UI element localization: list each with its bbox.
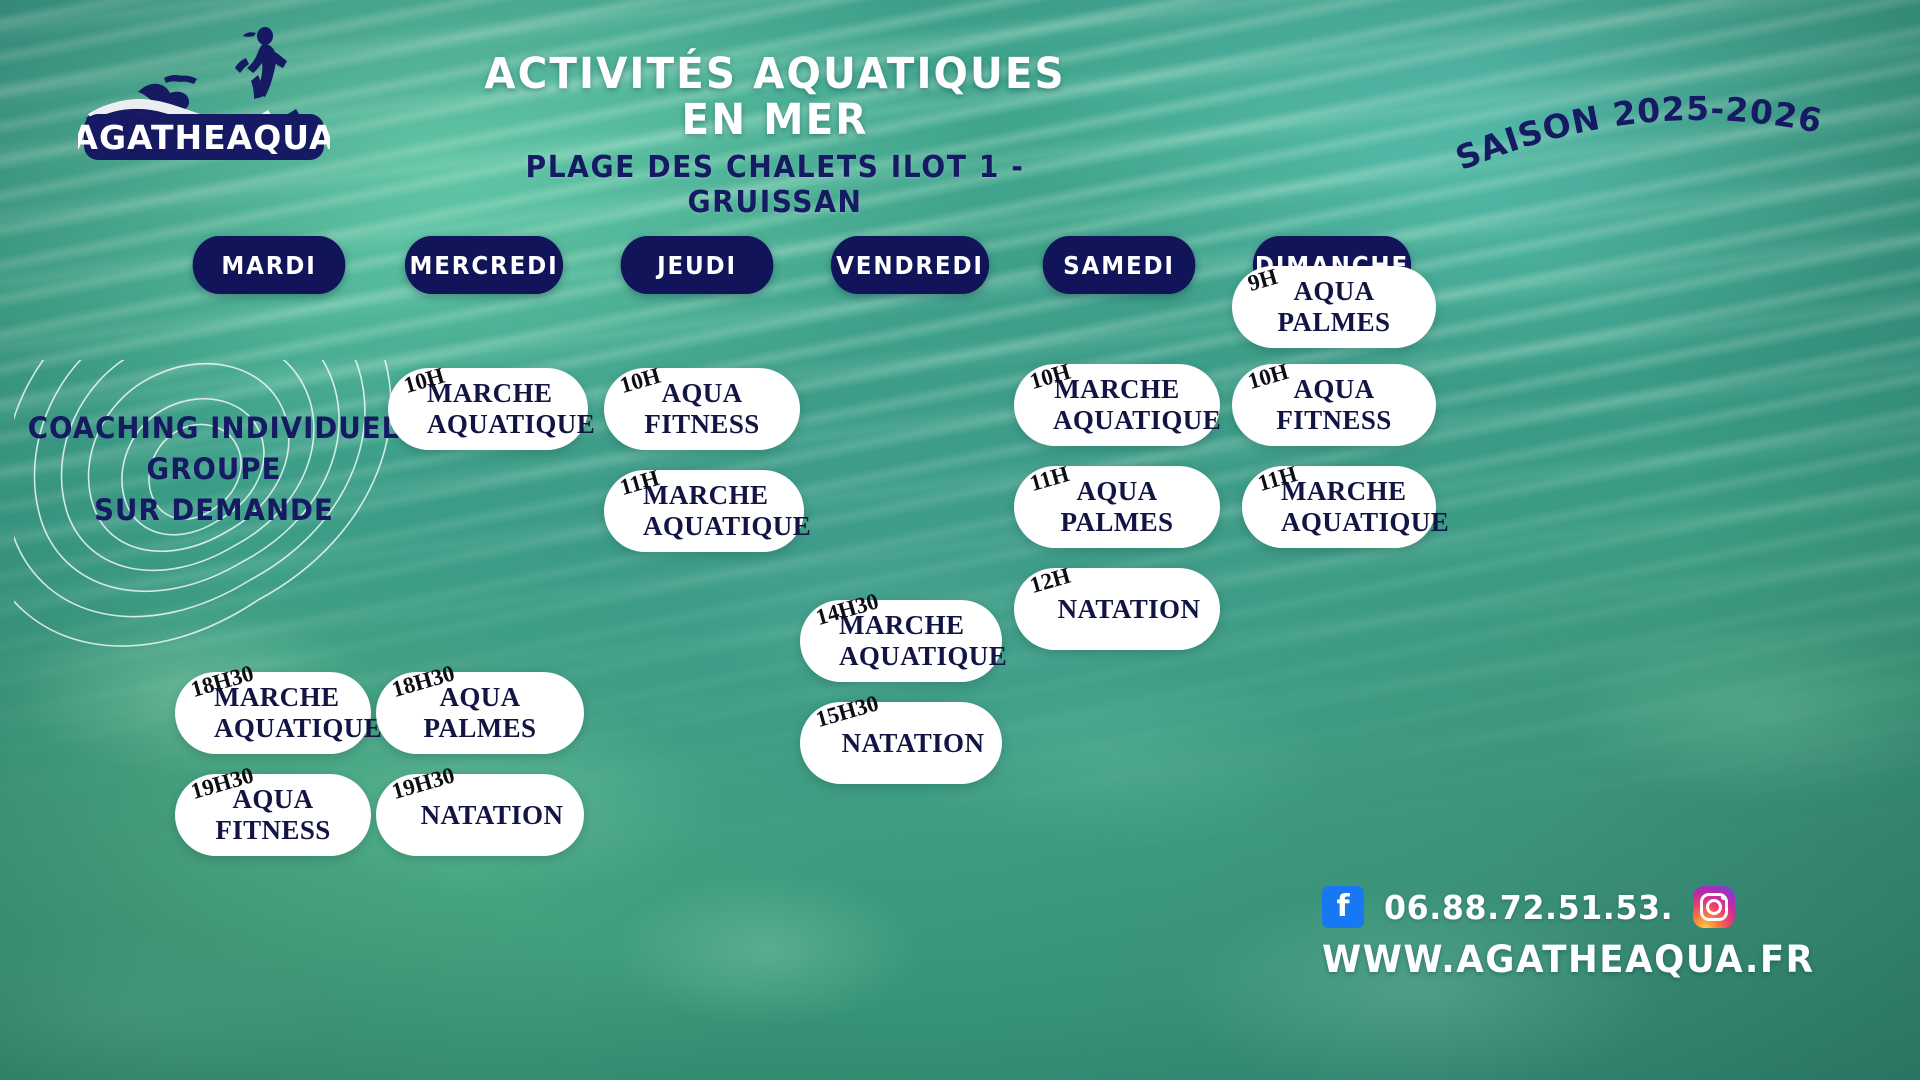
logo-wordmark-text: AGATHEAQUA xyxy=(78,118,330,157)
activity-name: NATATION xyxy=(387,800,574,831)
page-subtitle: PLAGE DES CHALETS ILOT 1 - GRUISSAN xyxy=(451,150,1100,220)
activity-card[interactable]: 14H30MARCHE AQUATIQUE xyxy=(800,600,1002,682)
activity-card[interactable]: 18H30MARCHE AQUATIQUE xyxy=(175,672,371,754)
activity-name: AQUA PALMES xyxy=(1261,276,1407,338)
activity-card[interactable]: 15H30NATATION xyxy=(800,702,1002,784)
agatheaqua-logo[interactable]: AGATHEAQUA xyxy=(78,22,330,162)
contact-block: f 06.88.72.51.53. WWW.AGATHEAQUA.FR xyxy=(1322,886,1882,981)
activity-card[interactable]: 10HAQUA FITNESS xyxy=(1232,364,1436,446)
coaching-line-1: COACHING INDIVIDUEL xyxy=(24,408,404,449)
coaching-block: COACHING INDIVIDUEL GROUPE SUR DEMANDE xyxy=(14,360,414,660)
activity-card[interactable]: 11HMARCHE AQUATIQUE xyxy=(604,470,804,552)
day-header-mercredi[interactable]: MERCREDI xyxy=(405,236,563,294)
title-block: ACTIVITÉS AQUATIQUES EN MER PLAGE DES CH… xyxy=(430,52,1120,220)
day-header-label: MERCREDI xyxy=(410,251,559,280)
activity-name: NATATION xyxy=(1024,594,1211,625)
day-header-label: MARDI xyxy=(221,251,316,280)
activity-card[interactable]: 10HMARCHE AQUATIQUE xyxy=(388,368,588,450)
coaching-text: COACHING INDIVIDUEL GROUPE SUR DEMANDE xyxy=(24,408,404,532)
phone-number[interactable]: 06.88.72.51.53. xyxy=(1384,888,1673,927)
facebook-icon[interactable]: f xyxy=(1322,886,1364,928)
activity-card[interactable]: 12HNATATION xyxy=(1014,568,1220,650)
season-label: SAISON 2025-2026 xyxy=(1448,96,1868,186)
facebook-glyph: f xyxy=(1336,892,1349,922)
day-header-samedi[interactable]: SAMEDI xyxy=(1043,236,1196,294)
website-url[interactable]: WWW.AGATHEAQUA.FR xyxy=(1322,938,1860,981)
coaching-line-3: SUR DEMANDE xyxy=(24,490,404,531)
contact-row: f 06.88.72.51.53. xyxy=(1322,886,1882,928)
runner-silhouette xyxy=(235,27,287,99)
poster-root: AGATHEAQUA ACTIVITÉS AQUATIQUES EN MER P… xyxy=(0,0,1920,1080)
day-header-label: SAMEDI xyxy=(1063,251,1175,280)
activity-card[interactable]: 18H30AQUA PALMES xyxy=(376,672,584,754)
season-text: SAISON 2025-2026 xyxy=(1450,89,1826,178)
activity-card[interactable]: 19H30AQUA FITNESS xyxy=(175,774,371,856)
day-header-jeudi[interactable]: JEUDI xyxy=(621,236,774,294)
day-header-label: VENDREDI xyxy=(836,251,984,280)
day-header-row: MARDIMERCREDIJEUDIVENDREDISAMEDIDIMANCHE xyxy=(0,236,1920,296)
day-header-vendredi[interactable]: VENDREDI xyxy=(831,236,989,294)
activity-card[interactable]: 11HMARCHE AQUATIQUE xyxy=(1242,466,1436,548)
day-header-mardi[interactable]: MARDI xyxy=(193,236,346,294)
activity-card[interactable]: 10HAQUA FITNESS xyxy=(604,368,800,450)
activity-card[interactable]: 9HAQUA PALMES xyxy=(1232,266,1436,348)
instagram-icon[interactable] xyxy=(1693,886,1735,928)
activity-card[interactable]: 10HMARCHE AQUATIQUE xyxy=(1014,364,1220,446)
coaching-line-2: GROUPE xyxy=(24,449,404,490)
activity-card[interactable]: 11HAQUA PALMES xyxy=(1014,466,1220,548)
activity-card[interactable]: 19H30NATATION xyxy=(376,774,584,856)
day-header-label: JEUDI xyxy=(657,251,737,280)
activity-name: NATATION xyxy=(808,728,995,759)
page-title: ACTIVITÉS AQUATIQUES EN MER xyxy=(451,52,1100,143)
